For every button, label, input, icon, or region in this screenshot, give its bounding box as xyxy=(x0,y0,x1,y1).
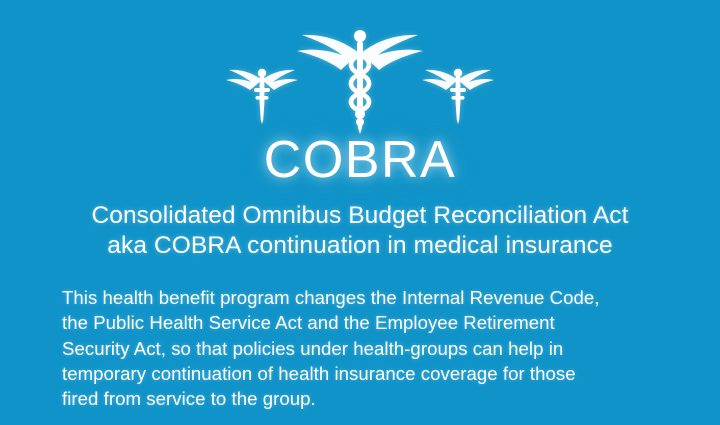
caduceus-logo-group xyxy=(0,24,720,136)
caduceus-icon-center xyxy=(285,24,435,136)
cobra-info-poster: COBRA Consolidated Omnibus Budget Reconc… xyxy=(0,0,720,425)
body-line-5: fired from service to the group. xyxy=(62,386,672,411)
body-line-2: the Public Health Service Act and the Em… xyxy=(62,310,672,335)
body-line-1: This health benefit program changes the … xyxy=(62,285,672,310)
body-paragraph: This health benefit program changes the … xyxy=(62,285,672,411)
subtitle-line-2: aka COBRA continuation in medical insura… xyxy=(30,231,690,261)
subtitle-line-1: Consolidated Omnibus Budget Reconciliati… xyxy=(30,201,690,231)
caduceus-icon-right xyxy=(419,60,497,126)
body-line-3: Security Act, so that policies under hea… xyxy=(62,336,672,361)
page-title: COBRA xyxy=(0,134,720,186)
subtitle: Consolidated Omnibus Budget Reconciliati… xyxy=(30,201,690,261)
body-line-4: temporary continuation of health insuran… xyxy=(62,361,672,386)
